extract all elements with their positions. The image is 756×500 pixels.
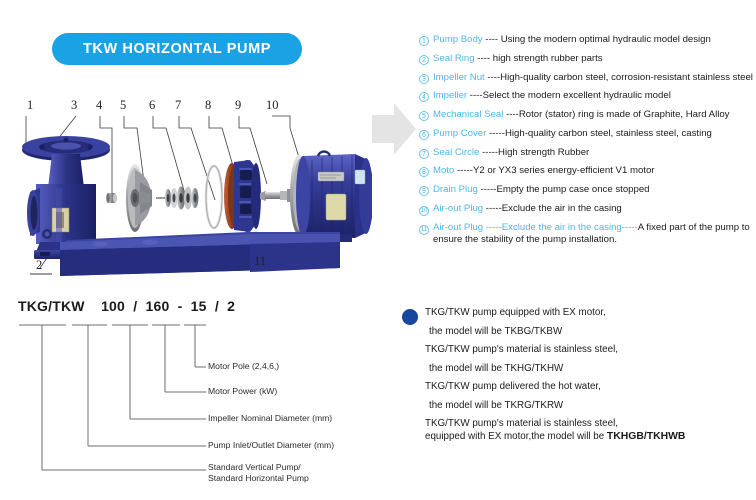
legend-number: 10 (419, 203, 433, 216)
legend-number: 11 (419, 222, 433, 235)
legend-item: 1 Pump Body ---- Using the modern optima… (419, 34, 753, 47)
note-line: equipped with EX motor,the model will be… (425, 431, 745, 442)
legend-number: 6 (419, 128, 433, 141)
legend-item-text: Seal Circle -----High strength Rubber (433, 147, 589, 159)
parts-legend: 1 Pump Body ---- Using the modern optima… (419, 34, 753, 252)
model-variant-notes: TKG/TKW pump equipped with EX motor, the… (425, 307, 745, 450)
nomenclature-label: Motor Power (kW) (208, 385, 277, 397)
legend-item: 3 Impeller Nut ----High-quality carbon s… (419, 72, 753, 85)
legend-number: 7 (419, 147, 433, 160)
legend-item: 5 Mechanical Seal ----Rotor (stator) rin… (419, 109, 753, 122)
callout-number: 9 (235, 98, 241, 113)
legend-item-text: Pump Body ---- Using the modern optimal … (433, 34, 711, 46)
legend-item: 7 Seal Circle -----High strength Rubber (419, 147, 753, 160)
note-line: the model will be TKBG/TKBW (425, 326, 745, 337)
legend-item: 8 Moto -----Y2 or YX3 series energy-effi… (419, 165, 753, 178)
legend-item-text: Air-out Plug -----Exclude the air in the… (433, 222, 750, 247)
note-line: TKG/TKW pump's material is stainless ste… (425, 418, 745, 429)
legend-item-text: Pump Cover -----High-quality carbon stee… (433, 128, 712, 140)
note-line: TKG/TKW pump equipped with EX motor, (425, 307, 745, 318)
legend-number: 3 (419, 72, 433, 85)
nomenclature-label: Standard Horizontal Pump (208, 472, 309, 484)
page-title: TKW HORIZONTAL PUMP (83, 41, 271, 57)
nomenclature-label: Pump Inlet/Outlet Diameter (mm) (208, 439, 334, 451)
note-line: TKG/TKW pump's material is stainless ste… (425, 344, 745, 355)
bullet-dot-icon (402, 309, 418, 325)
note-line: TKG/TKW pump delivered the hot water, (425, 381, 745, 392)
model-nomenclature-diagram: TKG/TKW 100 / 160 - 15 / 2 Motor Pole (2… (0, 298, 392, 500)
callout-number: 7 (175, 98, 181, 113)
legend-number: 5 (419, 109, 433, 122)
legend-item-text: Drain Plug -----Empty the pump case once… (433, 184, 650, 196)
legend-item-text: Seal Ring ---- high strength rubber part… (433, 53, 603, 65)
right-arrow-icon (372, 103, 416, 155)
callout-number: 5 (120, 98, 126, 113)
callout-number: 1 (27, 98, 33, 113)
legend-item: 2 Seal Ring ---- high strength rubber pa… (419, 53, 753, 66)
callout-number: 10 (266, 98, 279, 113)
nomenclature-label: Impeller Nominal Diameter (mm) (208, 412, 332, 424)
legend-item-text: Mechanical Seal ----Rotor (stator) ring … (433, 109, 729, 121)
legend-item: 9 Drain Plug -----Empty the pump case on… (419, 184, 753, 197)
legend-item-text: Air-out Plug -----Exclude the air in the… (433, 203, 622, 215)
callout-number: 4 (96, 98, 102, 113)
legend-item: 4 Impeller ----Select the modern excelle… (419, 90, 753, 103)
page-title-pill: TKW HORIZONTAL PUMP (52, 33, 302, 65)
legend-item-text: Impeller Nut ----High-quality carbon ste… (433, 72, 753, 84)
callout-number: 11 (254, 254, 266, 269)
nomenclature-label: Motor Pole (2,4,6,) (208, 360, 279, 372)
legend-item-text: Impeller ----Select the modern excellent… (433, 90, 671, 102)
legend-number: 4 (419, 90, 433, 103)
legend-number: 8 (419, 165, 433, 178)
legend-item: 6 Pump Cover -----High-quality carbon st… (419, 128, 753, 141)
callout-number: 2 (36, 258, 42, 273)
legend-number: 1 (419, 34, 433, 47)
callout-number: 8 (205, 98, 211, 113)
legend-number: 9 (419, 184, 433, 197)
note-line: the model will be TKRG/TKRW (425, 400, 745, 411)
callout-number: 6 (149, 98, 155, 113)
legend-item-text: Moto -----Y2 or YX3 series energy-effici… (433, 165, 654, 177)
legend-item: 11 Air-out Plug -----Exclude the air in … (419, 222, 753, 247)
exploded-assembly-diagram: 1 3 4 5 6 7 8 9 10 2 11 (0, 92, 372, 292)
note-line: the model will be TKHG/TKHW (425, 363, 745, 374)
legend-item: 10 Air-out Plug -----Exclude the air in … (419, 203, 753, 216)
legend-number: 2 (419, 53, 433, 66)
callout-number: 3 (71, 98, 77, 113)
